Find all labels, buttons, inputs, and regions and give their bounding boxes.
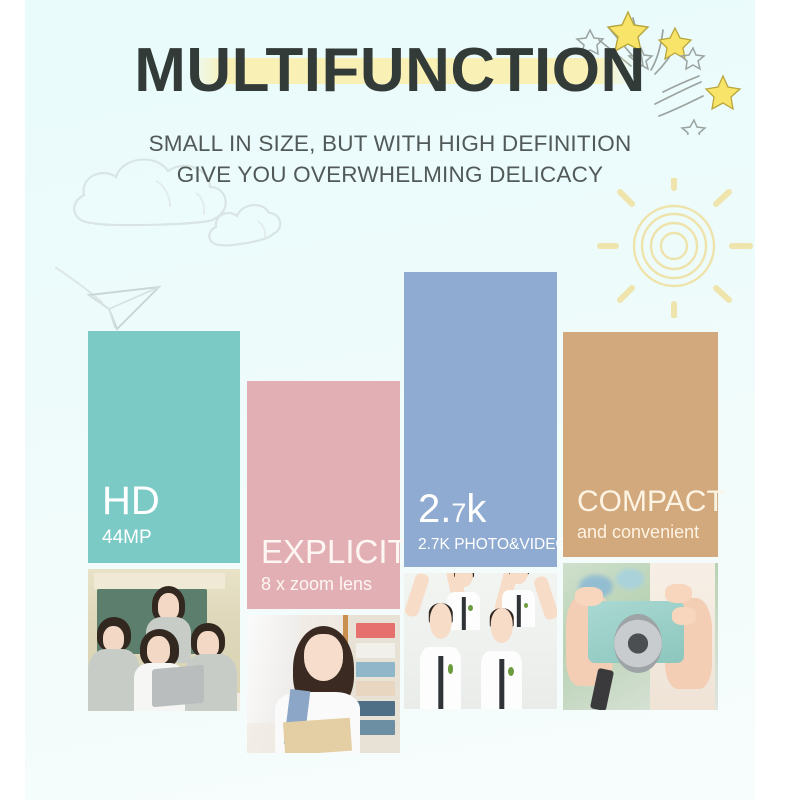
photo-cheering-students bbox=[404, 573, 557, 709]
feature-column-hd: HD 44MP bbox=[88, 331, 240, 711]
feature-caption-hd: 44MP bbox=[102, 528, 226, 549]
feature-tile-resolution: 2.7k 2.7K PHOTO&VIDEO bbox=[404, 272, 557, 567]
page-title: MULTIFUNCTION bbox=[0, 40, 780, 102]
feature-tile-compact: COMPACT and convenient bbox=[563, 332, 718, 557]
page-subtitle-line-1: SMALL IN SIZE, BUT WITH HIGH DEFINITION bbox=[0, 128, 780, 159]
photo-hands-holding-camera bbox=[563, 563, 718, 710]
feature-column-resolution: 2.7k 2.7K PHOTO&VIDEO bbox=[404, 272, 557, 709]
promotional-poster: MULTIFUNCTION SMALL IN SIZE, BUT WITH HI… bbox=[0, 0, 800, 800]
feature-column-explicit: EXPLICIT 8 x zoom lens bbox=[247, 381, 400, 753]
page-subtitle-line-2: GIVE YOU OVERWHELMING DELICACY bbox=[0, 159, 780, 190]
feature-tile-hd: HD 44MP bbox=[88, 331, 240, 563]
feature-headline-compact: COMPACT bbox=[577, 486, 704, 518]
feature-headline-hd: HD bbox=[102, 480, 226, 522]
headline-prefix: 2. bbox=[418, 487, 451, 531]
feature-caption-compact: and convenient bbox=[577, 523, 704, 543]
feature-headline-resolution: 2.7k bbox=[418, 488, 543, 530]
headline-seven: 7 bbox=[451, 498, 466, 528]
page-subtitle: SMALL IN SIZE, BUT WITH HIGH DEFINITION … bbox=[0, 128, 780, 190]
headline-suffix: k bbox=[466, 487, 486, 531]
feature-caption-resolution: 2.7K PHOTO&VIDEO bbox=[418, 536, 543, 553]
feature-headline-explicit: EXPLICIT bbox=[261, 535, 386, 570]
page-title-text: MULTIFUNCTION bbox=[0, 40, 780, 102]
photo-classroom-students bbox=[88, 569, 240, 711]
photo-woman-library bbox=[247, 615, 400, 753]
feature-column-compact: COMPACT and convenient bbox=[563, 332, 718, 710]
feature-tile-explicit: EXPLICIT 8 x zoom lens bbox=[247, 381, 400, 609]
feature-caption-explicit: 8 x zoom lens bbox=[261, 575, 386, 595]
